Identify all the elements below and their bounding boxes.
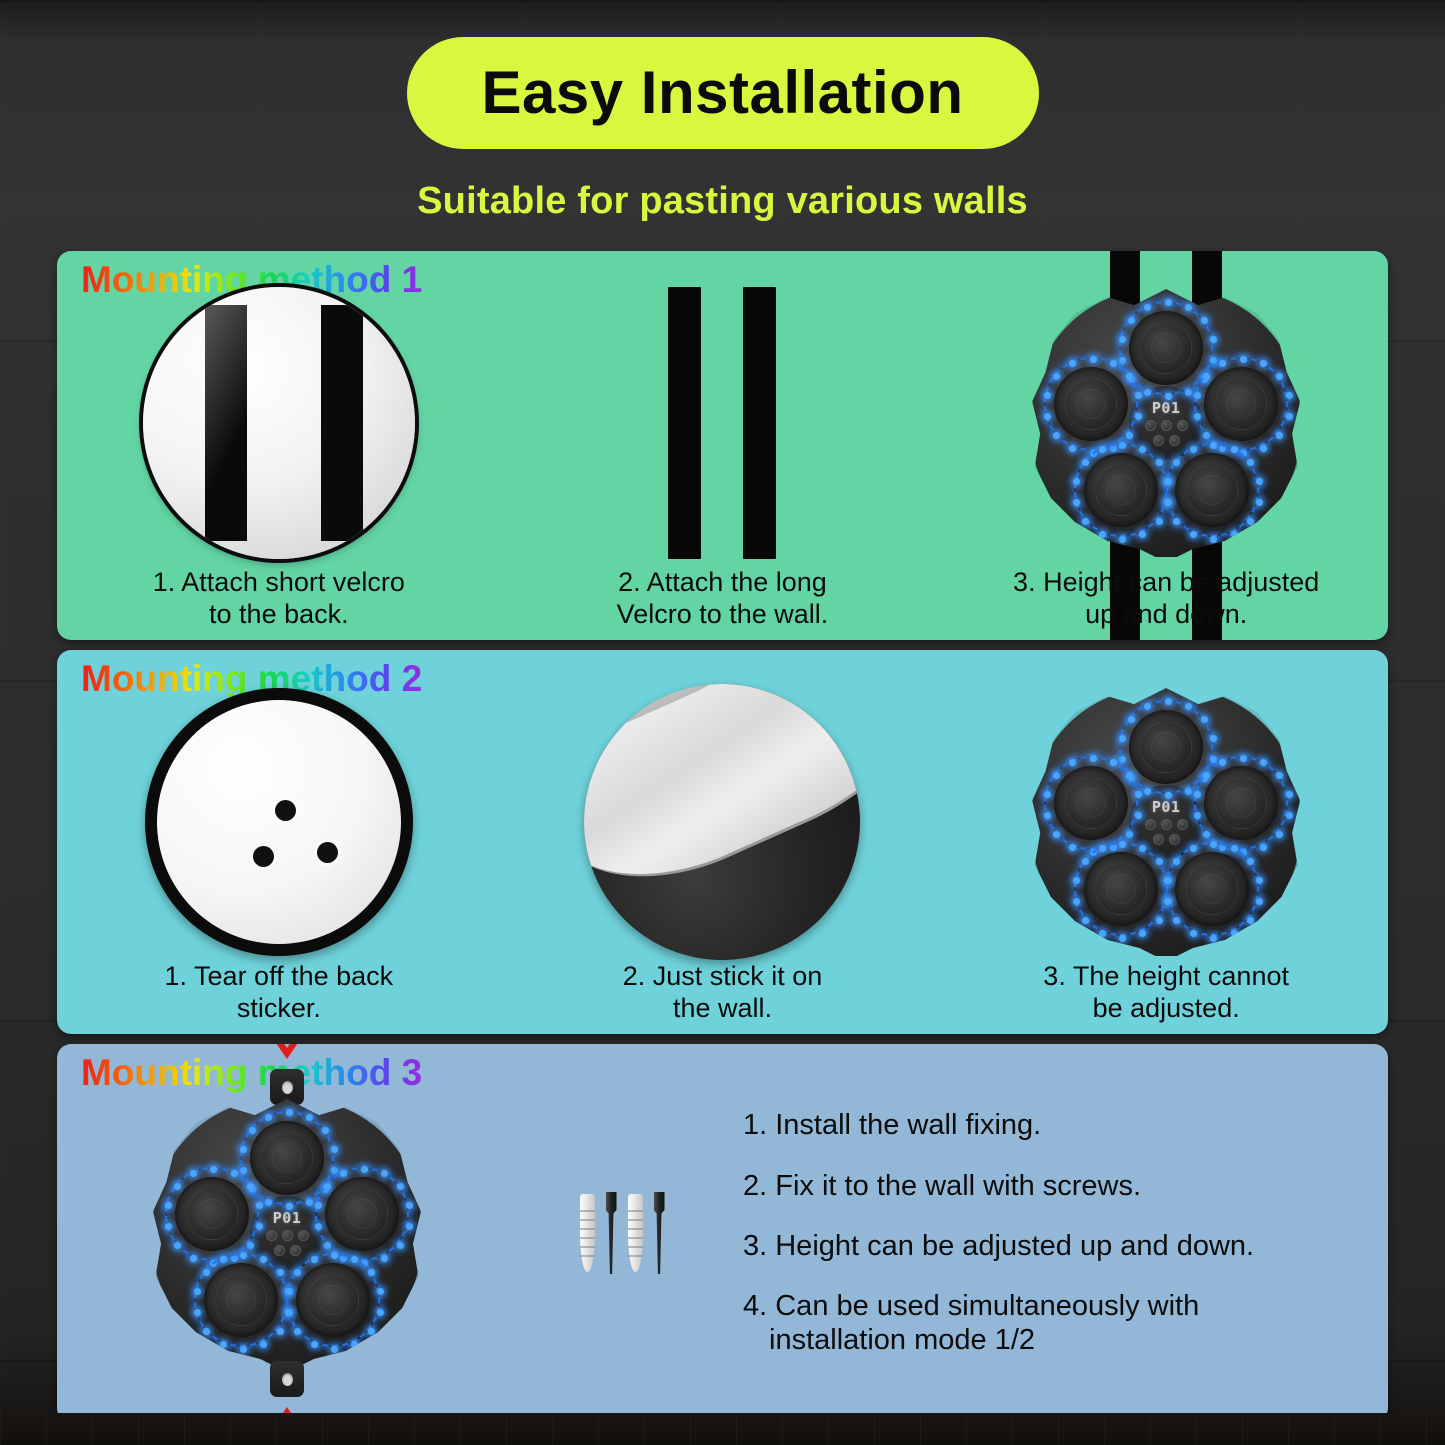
- led-dot: [1260, 759, 1267, 766]
- led-dot: [165, 1223, 172, 1230]
- led-dot: [1276, 831, 1283, 838]
- led-dot: [1185, 703, 1192, 710]
- led-dot: [1210, 442, 1217, 449]
- led-dot: [190, 1170, 197, 1177]
- led-dot: [1247, 518, 1254, 525]
- led-dot: [1231, 845, 1238, 852]
- led-dot: [324, 1242, 331, 1249]
- led-dot: [203, 1269, 210, 1276]
- led-dot: [240, 1167, 247, 1174]
- peel-sticker-art: [501, 686, 945, 958]
- led-dot: [1276, 432, 1283, 439]
- peel-sticker-disc-icon: [584, 684, 860, 960]
- led-dot: [1119, 336, 1126, 343]
- led-dot: [174, 1242, 181, 1249]
- led-dot: [1247, 459, 1254, 466]
- device-button-power-icon[interactable]: [1145, 420, 1156, 431]
- caption-line-2: the wall.: [511, 993, 935, 1024]
- screw-icon-2: [654, 1192, 665, 1274]
- punch-pad-1[interactable]: [1129, 311, 1203, 385]
- floor-strip: [0, 1413, 1445, 1445]
- method-3-step-list: 1. Install the wall fixing. 2. Fix it to…: [727, 1108, 1388, 1357]
- led-dot: [1286, 413, 1293, 420]
- device-display: P01: [273, 1211, 302, 1226]
- led-dot: [351, 1256, 358, 1263]
- punch-pad-5[interactable]: [296, 1263, 370, 1337]
- led-dot: [1156, 518, 1163, 525]
- device-button-bluetooth-icon[interactable]: [298, 1230, 309, 1241]
- hardware-kit: [580, 1188, 665, 1278]
- led-dot: [240, 1146, 247, 1153]
- method-3-hardware-cell: [517, 1044, 727, 1422]
- led-dot: [260, 1341, 267, 1348]
- led-dot: [1286, 392, 1293, 399]
- led-dot: [1185, 304, 1192, 311]
- led-dot: [1044, 812, 1051, 819]
- led-dot: [1203, 373, 1210, 380]
- led-dot: [1185, 788, 1192, 795]
- led-dot: [306, 1114, 313, 1121]
- led-dot: [1219, 360, 1226, 367]
- punch-pad-3[interactable]: [325, 1177, 399, 1251]
- led-dot: [1210, 935, 1217, 942]
- list-item: 1. Install the wall fixing.: [743, 1108, 1358, 1142]
- led-dot: [1231, 446, 1238, 453]
- caption-line-2: to the back.: [67, 599, 491, 630]
- led-dot: [1128, 317, 1135, 324]
- led-dot: [1119, 735, 1126, 742]
- punch-pad-1[interactable]: [1129, 710, 1203, 784]
- led-dot: [1210, 536, 1217, 543]
- led-dot: [1201, 716, 1208, 723]
- method-2-step-1: 1. Tear off the back sticker.: [57, 650, 501, 1034]
- device-button-row-bottom: [1153, 834, 1180, 845]
- led-dot: [377, 1309, 384, 1316]
- led-dot: [368, 1328, 375, 1335]
- device-button-volume-up-icon[interactable]: [1169, 435, 1180, 446]
- led-dot: [294, 1269, 301, 1276]
- method-3-device-cell: P01: [57, 1044, 517, 1422]
- led-dot: [1053, 831, 1060, 838]
- led-dot: [377, 1288, 384, 1295]
- device-button-volume-up-icon[interactable]: [1169, 834, 1180, 845]
- led-dot: [240, 1252, 247, 1259]
- led-dot: [1110, 360, 1117, 367]
- led-dot: [1185, 389, 1192, 396]
- caption-line-1: 3. Height can be adjusted: [954, 567, 1378, 598]
- led-dot: [260, 1256, 267, 1263]
- sticker-hole-1: [275, 800, 296, 821]
- led-dot: [1082, 917, 1089, 924]
- led-dot: [1144, 788, 1151, 795]
- device-button-power-icon[interactable]: [266, 1230, 277, 1241]
- led-dot: [1173, 518, 1180, 525]
- punch-pad-3[interactable]: [1204, 766, 1278, 840]
- led-dot: [331, 1346, 338, 1353]
- led-dot: [324, 1183, 331, 1190]
- boxing-machine-device: P01: [1032, 688, 1300, 956]
- led-dot: [1173, 917, 1180, 924]
- punch-pad-4[interactable]: [1084, 453, 1158, 527]
- led-dot: [249, 1127, 256, 1134]
- device-body: P01: [153, 1099, 421, 1367]
- led-dot: [286, 1109, 293, 1116]
- led-dot: [294, 1328, 301, 1335]
- led-dot: [220, 1341, 227, 1348]
- led-dot: [1260, 360, 1267, 367]
- step-text: 2. Fix it to the wall with screws.: [743, 1170, 1141, 1202]
- sticker-disc-art: [57, 686, 501, 958]
- led-dot: [1210, 735, 1217, 742]
- led-dot: [368, 1269, 375, 1276]
- sticker-disc-icon: [145, 688, 413, 956]
- led-dot: [1210, 841, 1217, 848]
- led-dot: [1053, 373, 1060, 380]
- led-dot: [361, 1166, 368, 1173]
- screw-icon-1: [606, 1192, 617, 1274]
- led-dot: [381, 1255, 388, 1262]
- punch-pad-5[interactable]: [1175, 453, 1249, 527]
- caption-line-1: 2. Attach the long: [511, 567, 935, 598]
- device-button-row-bottom: [274, 1245, 301, 1256]
- led-dot: [331, 1252, 338, 1259]
- led-dot: [1069, 759, 1076, 766]
- led-dot: [1099, 930, 1106, 937]
- led-dot: [1099, 446, 1106, 453]
- led-dot: [1044, 413, 1051, 420]
- sticker-hole-2: [253, 846, 274, 867]
- sticker-hole-3: [317, 842, 338, 863]
- led-dot: [1201, 317, 1208, 324]
- led-dot: [1165, 299, 1172, 306]
- led-dot: [1144, 304, 1151, 311]
- method-1-step-1-caption: 1. Attach short velcro to the back.: [57, 567, 501, 630]
- device-body: P01: [1032, 289, 1300, 557]
- led-dot: [1073, 499, 1080, 506]
- method-1-step-3: P01: [944, 251, 1388, 640]
- method-1-step-3-caption: 3. Height can be adjusted up and down.: [944, 567, 1388, 630]
- step-text-continued: installation mode 1/2: [743, 1323, 1358, 1357]
- caption-line-2: be adjusted.: [954, 993, 1378, 1024]
- punch-pad-4[interactable]: [1084, 852, 1158, 926]
- led-dot: [1164, 478, 1171, 485]
- led-dot: [315, 1202, 322, 1209]
- led-dot: [1190, 845, 1197, 852]
- device-on-wall-art: P01: [944, 287, 1388, 559]
- led-dot: [1276, 373, 1283, 380]
- led-dot: [1240, 755, 1247, 762]
- device-button-row-top: [1145, 420, 1188, 431]
- led-dot: [1256, 499, 1263, 506]
- led-dot: [1139, 930, 1146, 937]
- led-dot: [1247, 917, 1254, 924]
- caption-line-1: 1. Tear off the back: [67, 961, 491, 992]
- led-dot: [1073, 898, 1080, 905]
- led-dot: [1119, 756, 1126, 763]
- led-dot: [1139, 531, 1146, 538]
- led-dot: [1194, 791, 1201, 798]
- panel-mounting-method-2: Mounting method 2 1. Tear off the back s…: [57, 650, 1388, 1034]
- wall-anchor-icon-2: [628, 1194, 643, 1272]
- caption-line-1: 2. Just stick it on: [511, 961, 935, 992]
- led-dot: [265, 1199, 272, 1206]
- led-dot: [265, 1114, 272, 1121]
- device-button-row-top: [1145, 819, 1188, 830]
- device-button-mode-icon[interactable]: [1161, 420, 1172, 431]
- arrow-down-icon: [265, 1044, 309, 1059]
- led-dot: [1090, 755, 1097, 762]
- method-1-step-1: 1. Attach short velcro to the back.: [57, 251, 501, 640]
- punch-pad-2[interactable]: [1054, 367, 1128, 441]
- led-dot: [1073, 478, 1080, 485]
- punch-pad-4[interactable]: [204, 1263, 278, 1337]
- led-dot: [351, 1341, 358, 1348]
- panel-mounting-method-1: Mounting method 1 1. Attach short velcro…: [57, 251, 1388, 640]
- led-dot: [1164, 877, 1171, 884]
- led-dot: [315, 1223, 322, 1230]
- led-dot: [1286, 791, 1293, 798]
- list-item: 2. Fix it to the wall with screws.: [743, 1169, 1358, 1203]
- punch-pad-2[interactable]: [175, 1177, 249, 1251]
- led-dot: [1156, 459, 1163, 466]
- led-dot: [220, 1256, 227, 1263]
- led-dot: [1194, 812, 1201, 819]
- led-dot: [311, 1341, 318, 1348]
- device-plain-art: P01: [944, 686, 1388, 958]
- device-button-row-top: [266, 1230, 309, 1241]
- step-text: 1. Install the wall fixing.: [743, 1109, 1041, 1141]
- caption-line-1: 3. The height cannot: [954, 961, 1378, 992]
- led-dot: [1203, 772, 1210, 779]
- led-dot: [340, 1170, 347, 1177]
- led-dot: [277, 1269, 284, 1276]
- led-dot: [1247, 858, 1254, 865]
- led-dot: [1256, 877, 1263, 884]
- led-dot: [1190, 930, 1197, 937]
- method-1-step-2-caption: 2. Attach the long Velcro to the wall.: [501, 567, 945, 630]
- led-dot: [1203, 432, 1210, 439]
- led-dot: [194, 1309, 201, 1316]
- page-title-pill: Easy Installation: [407, 37, 1039, 149]
- led-dot: [397, 1183, 404, 1190]
- led-dot: [306, 1199, 313, 1206]
- led-dot: [1173, 459, 1180, 466]
- led-dot: [165, 1202, 172, 1209]
- led-dot: [1260, 844, 1267, 851]
- punch-pad-3[interactable]: [1204, 367, 1278, 441]
- boxing-machine-device: P01: [1032, 289, 1300, 557]
- led-dot: [1219, 759, 1226, 766]
- long-velcro-strips-icon: [668, 287, 776, 559]
- device-button-bluetooth-icon[interactable]: [1177, 819, 1188, 830]
- led-dot: [1082, 858, 1089, 865]
- led-dot: [1190, 446, 1197, 453]
- device-button-volume-down-icon[interactable]: [274, 1245, 285, 1256]
- device-button-power-icon[interactable]: [1145, 819, 1156, 830]
- led-dot: [240, 1346, 247, 1353]
- punch-pad-5[interactable]: [1175, 852, 1249, 926]
- led-dot: [406, 1202, 413, 1209]
- led-dot: [406, 1223, 413, 1230]
- led-dot: [1119, 935, 1126, 942]
- led-dot: [210, 1166, 217, 1173]
- led-dot: [1082, 459, 1089, 466]
- led-dot: [322, 1127, 329, 1134]
- long-velcro-strips-art: [501, 287, 945, 559]
- led-dot: [1276, 772, 1283, 779]
- led-dot: [381, 1170, 388, 1177]
- led-dot: [1190, 531, 1197, 538]
- led-dot: [1128, 716, 1135, 723]
- led-dot: [1044, 392, 1051, 399]
- led-dot: [1165, 698, 1172, 705]
- device-display: P01: [1152, 800, 1181, 815]
- list-item: 4. Can be used simultaneously with insta…: [743, 1289, 1358, 1357]
- wall-anchor-icon-1: [580, 1194, 595, 1272]
- device-button-bluetooth-icon[interactable]: [1177, 420, 1188, 431]
- device-body: P01: [1032, 688, 1300, 956]
- led-dot: [1069, 445, 1076, 452]
- infographic-root: Easy Installation Suitable for pasting v…: [0, 0, 1445, 1445]
- list-item: 3. Height can be adjusted up and down.: [743, 1229, 1358, 1263]
- mount-bracket-bottom: [270, 1361, 304, 1397]
- led-dot: [1164, 499, 1171, 506]
- velcro-back-disc-art: [57, 287, 501, 559]
- led-dot: [1144, 703, 1151, 710]
- led-dot: [1194, 413, 1201, 420]
- led-dot: [1240, 356, 1247, 363]
- device-button-volume-up-icon[interactable]: [290, 1245, 301, 1256]
- led-dot: [1069, 844, 1076, 851]
- method-2-step-3: P01: [944, 650, 1388, 1034]
- long-velcro-strip-2: [743, 287, 776, 559]
- led-dot: [1119, 357, 1126, 364]
- caption-line-2: up and down.: [954, 599, 1378, 630]
- led-dot: [1173, 858, 1180, 865]
- device-button-volume-down-icon[interactable]: [1153, 435, 1164, 446]
- punch-pad-2[interactable]: [1054, 766, 1128, 840]
- led-dot: [1119, 841, 1126, 848]
- page-subtitle: Suitable for pasting various walls: [0, 180, 1445, 223]
- led-dot: [285, 1309, 292, 1316]
- led-dot: [1119, 536, 1126, 543]
- method-1-step-2: 2. Attach the long Velcro to the wall.: [501, 251, 945, 640]
- panel-mounting-method-3: Mounting method 3 P01: [57, 1044, 1388, 1422]
- led-dot: [1110, 759, 1117, 766]
- disc-sheen: [143, 287, 415, 559]
- led-dot: [174, 1183, 181, 1190]
- led-dot: [331, 1146, 338, 1153]
- led-dot: [1082, 518, 1089, 525]
- led-dot: [1099, 531, 1106, 538]
- led-dot: [1231, 930, 1238, 937]
- led-dot: [1044, 791, 1051, 798]
- method-2-step-3-caption: 3. The height cannot be adjusted.: [944, 961, 1388, 1024]
- device-display: P01: [1152, 401, 1181, 416]
- led-dot: [277, 1328, 284, 1335]
- device-button-mode-icon[interactable]: [1161, 819, 1172, 830]
- page-title: Easy Installation: [482, 63, 964, 123]
- led-dot: [1260, 445, 1267, 452]
- caption-line-2: Velcro to the wall.: [511, 599, 935, 630]
- step-text: 4. Can be used simultaneously with: [743, 1290, 1199, 1322]
- sticker-face: [157, 700, 401, 944]
- boxing-machine-device-bracketed: P01: [153, 1099, 421, 1367]
- led-dot: [194, 1288, 201, 1295]
- led-dot: [190, 1255, 197, 1262]
- device-button-mode-icon[interactable]: [282, 1230, 293, 1241]
- caption-line-1: 1. Attach short velcro: [67, 567, 491, 598]
- led-dot: [1164, 898, 1171, 905]
- led-dot: [1194, 392, 1201, 399]
- led-dot: [203, 1328, 210, 1335]
- led-dot: [1069, 360, 1076, 367]
- led-dot: [1073, 877, 1080, 884]
- method-2-step-2: 2. Just stick it on the wall.: [501, 650, 945, 1034]
- device-button-volume-down-icon[interactable]: [1153, 834, 1164, 845]
- velcro-back-disc-icon: [143, 287, 415, 559]
- led-dot: [1256, 478, 1263, 485]
- led-dot: [1156, 917, 1163, 924]
- device-button-row-bottom: [1153, 435, 1180, 446]
- led-dot: [1144, 389, 1151, 396]
- led-dot: [1203, 831, 1210, 838]
- punch-pad-1[interactable]: [250, 1121, 324, 1195]
- led-dot: [286, 1203, 293, 1210]
- led-dot: [1119, 442, 1126, 449]
- led-dot: [1256, 898, 1263, 905]
- step-text: 3. Height can be adjusted up and down.: [743, 1230, 1254, 1262]
- led-dot: [1090, 356, 1097, 363]
- led-dot: [231, 1170, 238, 1177]
- led-dot: [1156, 858, 1163, 865]
- led-dot: [311, 1256, 318, 1263]
- led-dot: [1099, 845, 1106, 852]
- led-dot: [1139, 446, 1146, 453]
- method-2-step-2-caption: 2. Just stick it on the wall.: [501, 961, 945, 1024]
- led-dot: [285, 1288, 292, 1295]
- long-velcro-strip-1: [668, 287, 701, 559]
- led-dot: [1231, 531, 1238, 538]
- caption-line-2: sticker.: [67, 993, 491, 1024]
- led-dot: [1053, 432, 1060, 439]
- led-dot: [1139, 845, 1146, 852]
- led-dot: [1210, 336, 1217, 343]
- led-dot: [1053, 772, 1060, 779]
- method-2-step-1-caption: 1. Tear off the back sticker.: [57, 961, 501, 1024]
- led-dot: [1286, 812, 1293, 819]
- led-dot: [397, 1242, 404, 1249]
